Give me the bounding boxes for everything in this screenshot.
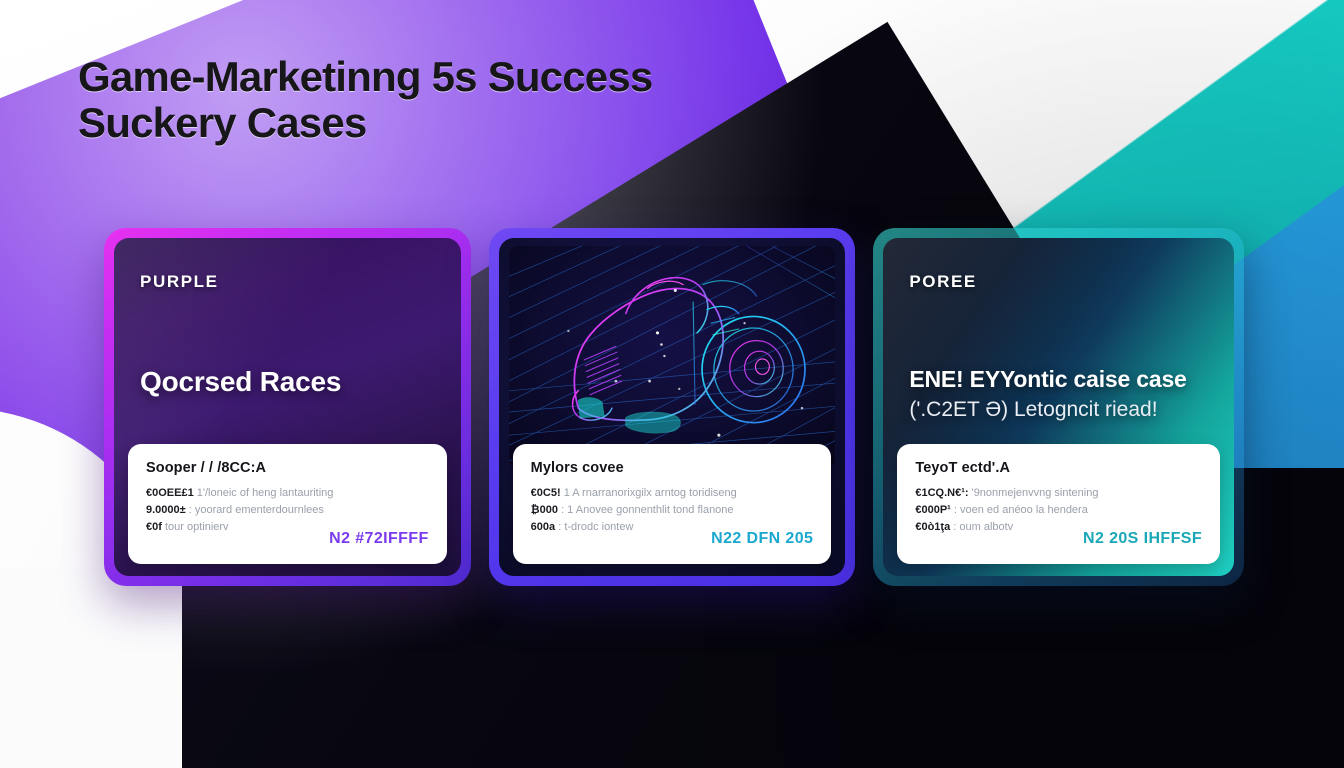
case-card-teal[interactable]: POREE ENE! EYYontic caise case ('.C2ET Ə… [873, 228, 1244, 586]
card-footer-panel[interactable]: Sooper / / /8CC:A €0OEE£1 1'/loneic of h… [128, 444, 447, 564]
card-footer-panel[interactable]: TeyoT ectd'.A €1CQ.N€¹: '9nonmejenvvng s… [897, 444, 1220, 564]
panel-line-text: tour optinierv [165, 521, 229, 533]
panel-title: Mylors covee [531, 460, 814, 476]
panel-line: ₿000 : 1 Anovee gonnenthlit tond flanone [531, 502, 814, 519]
panel-line-text: : 1 Anovee gonnenthlit tond flanone [561, 504, 733, 516]
panel-line-text: 1 A rnarranorixgilx arntog toridiseng [564, 487, 737, 499]
panel-line-text: : yoorard ementerdournlees [189, 504, 324, 516]
panel-line: €0OEE£1 1'/loneic of heng lantauriting [146, 485, 429, 502]
panel-line-label: €0OEE£1 [146, 487, 194, 499]
page-title-line-2: Suckery Cases [78, 100, 778, 146]
card-badge-label: PURPLE [140, 272, 219, 292]
panel-line-label: 600a [531, 521, 555, 533]
panel-line: €1CQ.N€¹: '9nonmejenvvng sintening [915, 485, 1202, 502]
background-white-blob-fill [0, 568, 182, 768]
panel-line-label: 9.0000± [146, 504, 186, 516]
panel-line: €000P¹ : voen ed anéoo la hendera [915, 502, 1202, 519]
panel-line-text: : voen ed anéoo la hendera [954, 504, 1088, 516]
panel-line: 9.0000± : yoorard ementerdournlees [146, 502, 429, 519]
case-card-neon[interactable]: Mylors covee €0C5! 1 A rnarranorixgilx a… [489, 228, 856, 586]
panel-line-text: : t-drodc iontew [558, 521, 633, 533]
card-headline: ENE! EYYontic caise case [909, 366, 1208, 392]
panel-code-badge: N2 20S IHFFSF [1083, 530, 1202, 548]
panel-line-text: 1'/loneic of heng lantauriting [197, 487, 334, 499]
panel-code-badge: N22 DFN 205 [711, 530, 813, 548]
panel-line: €0C5! 1 A rnarranorixgilx arntog toridis… [531, 485, 814, 502]
case-card-teal-surface: POREE ENE! EYYontic caise case ('.C2ET Ə… [883, 238, 1234, 576]
panel-line-label: €1CQ.N€¹: [915, 487, 968, 499]
case-card-deck: PURPLE Qocrsed Races Sooper / / /8CC:A €… [104, 228, 1244, 588]
case-card-purple-surface: PURPLE Qocrsed Races Sooper / / /8CC:A €… [114, 238, 461, 576]
card-headline-group: ENE! EYYontic caise case ('.C2ET Ə) Leto… [909, 366, 1208, 422]
case-card-purple[interactable]: PURPLE Qocrsed Races Sooper / / /8CC:A €… [104, 228, 471, 586]
panel-line-label: ₿000 [531, 504, 558, 516]
panel-code-badge: N2 #72IFFFF [329, 530, 429, 548]
case-card-neon-surface: Mylors covee €0C5! 1 A rnarranorixgilx a… [499, 238, 846, 576]
panel-line-text: '9nonmejenvvng sintening [972, 487, 1099, 499]
card-footer-panel[interactable]: Mylors covee €0C5! 1 A rnarranorixgilx a… [513, 444, 832, 564]
page-title: Game-Marketinng 5s Success Suckery Cases [78, 54, 778, 146]
panel-title: TeyoT ectd'.A [915, 460, 1202, 476]
page-title-line-1: Game-Marketinng 5s Success [78, 53, 652, 100]
card-badge-label: POREE [909, 272, 977, 292]
panel-line-label: €0C5! [531, 487, 561, 499]
neon-vehicle-illustration [509, 246, 836, 468]
card-headline: Qocrsed Races [140, 366, 435, 398]
panel-line-text: : oum albotv [953, 521, 1013, 533]
card-headline-group: Qocrsed Races [140, 366, 435, 398]
panel-title: Sooper / / /8CC:A [146, 460, 429, 476]
panel-line-label: €000P¹ [915, 504, 950, 516]
panel-line-label: €0f [146, 521, 162, 533]
panel-line-label: €0ò1ţa [915, 521, 950, 533]
card-subheadline: ('.C2ET Ə) Letogncit riead! [909, 398, 1208, 422]
slide-canvas: Game-Marketinng 5s Success Suckery Cases… [0, 0, 1344, 768]
